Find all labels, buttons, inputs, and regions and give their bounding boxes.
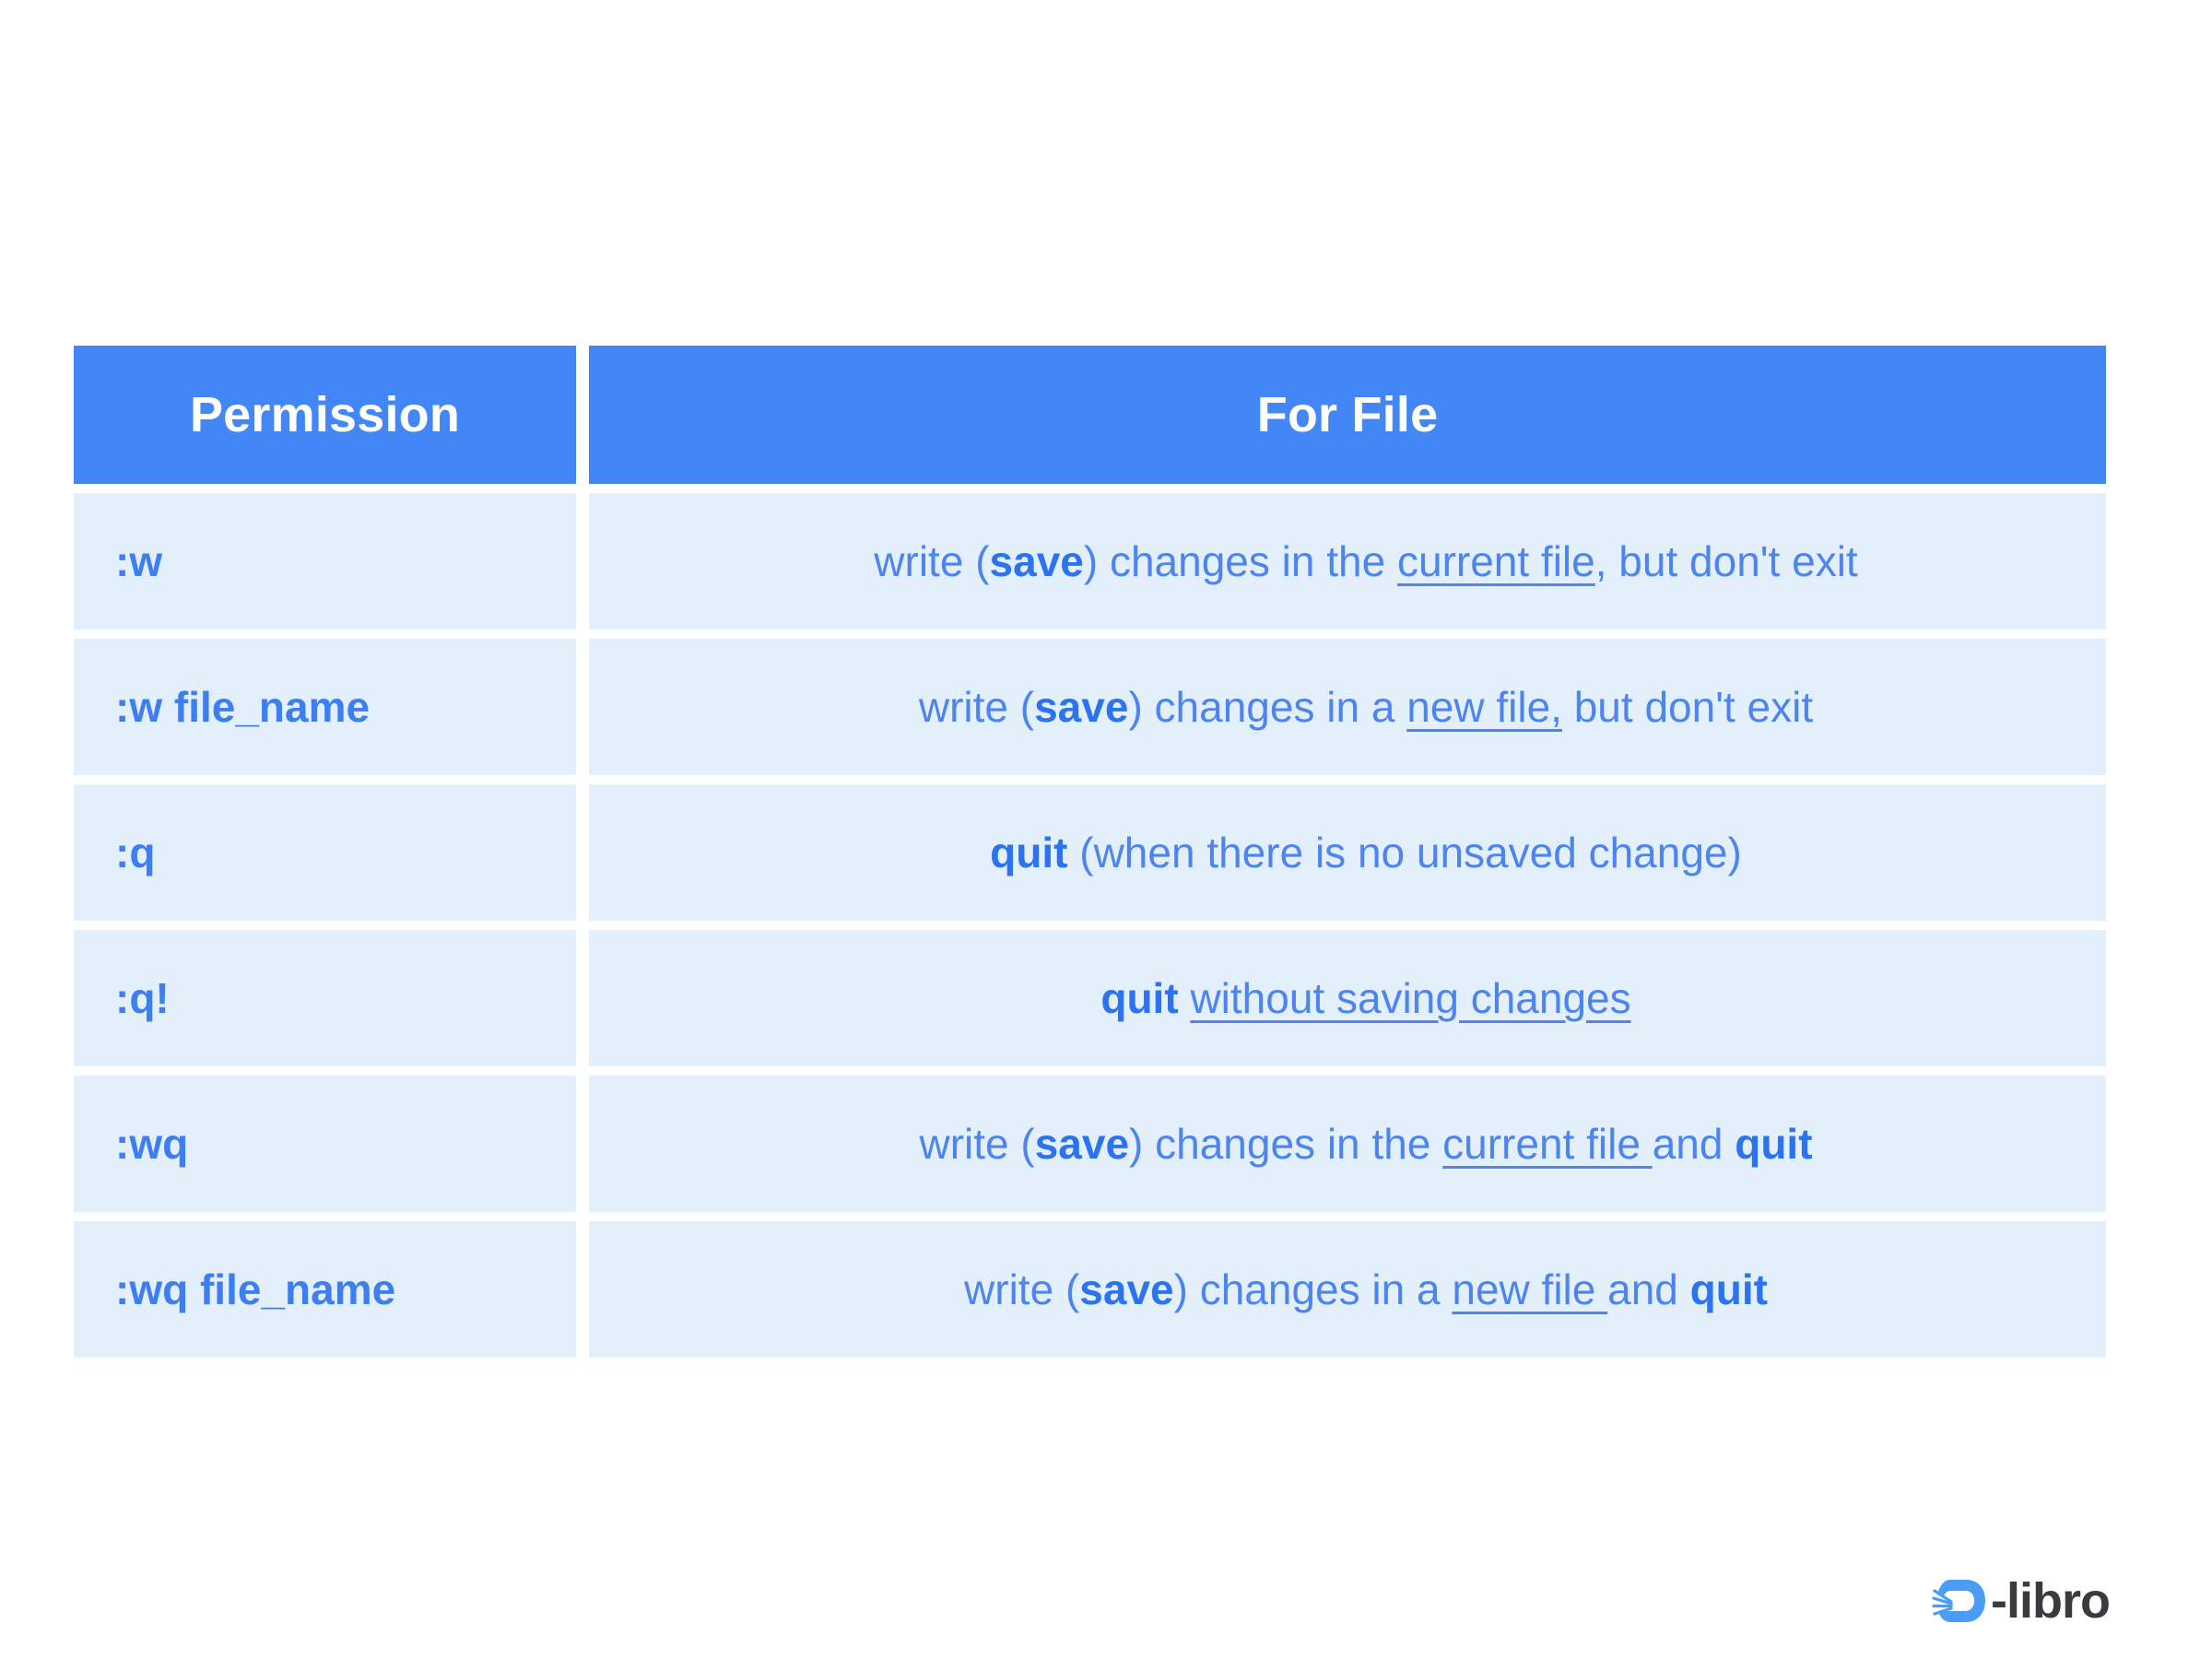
header-cell-permission: Permission <box>74 346 576 484</box>
permission-command: :w file_name <box>115 686 370 728</box>
permission-command: :wq file_name <box>115 1268 395 1311</box>
brand-logo: -libro <box>1932 1572 2110 1630</box>
row-permission-cell: :q <box>74 784 576 921</box>
permission-description: quit without saving changes <box>1100 974 1630 1023</box>
row-description-cell: write (save) changes in the current file… <box>589 493 2106 629</box>
table-row: :wq write (save) changes in the current … <box>74 1076 2106 1212</box>
table-row: :w file_name write (save) changes in a n… <box>74 639 2106 775</box>
logo-wordmark: -libro <box>1991 1576 2110 1626</box>
row-description-cell: quit (when there is no unsaved change) <box>589 784 2106 921</box>
row-description-cell: write (save) changes in the current file… <box>589 1076 2106 1212</box>
row-description-cell: write (save) changes in a new file, but … <box>589 639 2106 775</box>
permission-description: quit (when there is no unsaved change) <box>990 829 1742 877</box>
table-header-row: Permission For File <box>74 346 2106 484</box>
row-permission-cell: :q! <box>74 930 576 1066</box>
table-row: :q! quit without saving changes <box>74 930 2106 1066</box>
column-header-permission: Permission <box>190 390 460 440</box>
row-permission-cell: :wq <box>74 1076 576 1212</box>
row-permission-cell: :wq file_name <box>74 1221 576 1358</box>
header-cell-for-file: For File <box>589 346 2106 484</box>
permission-description: write (save) changes in a new file, but … <box>919 683 1813 732</box>
d-book-icon <box>1932 1572 1989 1630</box>
row-permission-cell: :w <box>74 493 576 629</box>
permission-command: :q! <box>115 977 170 1019</box>
vim-commands-table: Permission For File :w write (save) chan… <box>74 346 2106 1358</box>
permission-description: write (save) changes in the current file… <box>919 1120 1812 1169</box>
permission-command: :w <box>115 540 162 582</box>
permission-command: :q <box>115 831 155 874</box>
table-row: :w write (save) changes in the current f… <box>74 493 2106 629</box>
row-permission-cell: :w file_name <box>74 639 576 775</box>
permission-command: :wq <box>115 1123 188 1165</box>
column-header-for-file: For File <box>1257 390 1439 440</box>
table-row: :q quit (when there is no unsaved change… <box>74 784 2106 921</box>
permission-description: write (save) changes in the current file… <box>874 537 1857 586</box>
table-row: :wq file_name write (save) changes in a … <box>74 1221 2106 1358</box>
row-description-cell: quit without saving changes <box>589 930 2106 1066</box>
permission-description: write (save) changes in a new file and q… <box>964 1265 1768 1314</box>
row-description-cell: write (save) changes in a new file and q… <box>589 1221 2106 1358</box>
page-root: Permission For File :w write (save) chan… <box>0 0 2212 1659</box>
